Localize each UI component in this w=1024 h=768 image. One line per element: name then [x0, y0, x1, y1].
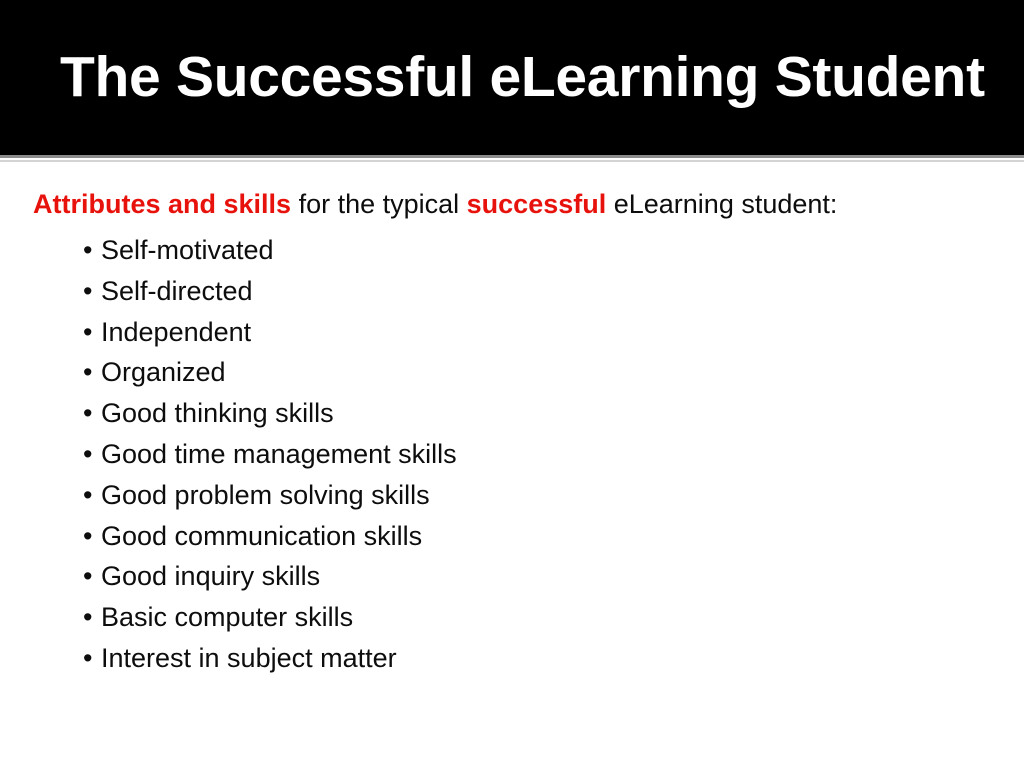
title-divider — [0, 155, 1024, 164]
bullet-dot-icon: • — [83, 271, 92, 312]
list-item: • Good problem solving skills — [0, 475, 1024, 516]
lead-emphasis-attributes: Attributes and skills — [33, 189, 291, 219]
list-item: • Good time management skills — [0, 434, 1024, 475]
bullet-dot-icon: • — [83, 230, 92, 271]
bullet-dot-icon: • — [83, 434, 92, 475]
bullet-dot-icon: • — [83, 556, 92, 597]
list-item: • Self-directed — [0, 271, 1024, 312]
lead-emphasis-successful: successful — [467, 189, 607, 219]
bullet-dot-icon: • — [83, 638, 92, 679]
bullet-dot-icon: • — [83, 516, 92, 557]
list-item: • Good thinking skills — [0, 393, 1024, 434]
list-item-label: Good thinking skills — [101, 398, 334, 428]
list-item: • Self-motivated — [0, 230, 1024, 271]
list-item: • Basic computer skills — [0, 597, 1024, 638]
list-item: • Interest in subject matter — [0, 638, 1024, 679]
bullet-dot-icon: • — [83, 312, 92, 353]
list-item-label: Self-motivated — [101, 235, 274, 265]
list-item-label: Good problem solving skills — [101, 480, 430, 510]
presentation-slide: The Successful eLearning Student Attribu… — [0, 0, 1024, 768]
list-item-label: Independent — [101, 317, 251, 347]
divider-rule-dark — [0, 155, 1024, 158]
lead-paragraph: Attributes and skills for the typical su… — [0, 185, 1024, 223]
list-item-label: Basic computer skills — [101, 602, 353, 632]
attributes-bullet-list: • Self-motivated • Self-directed • Indep… — [0, 230, 1024, 679]
list-item-label: Good time management skills — [101, 439, 457, 469]
list-item-label: Self-directed — [101, 276, 253, 306]
bullet-dot-icon: • — [83, 475, 92, 516]
list-item-label: Good inquiry skills — [101, 561, 320, 591]
slide-body: Attributes and skills for the typical su… — [0, 185, 1024, 679]
list-item-label: Interest in subject matter — [101, 643, 397, 673]
bullet-dot-icon: • — [83, 597, 92, 638]
lead-text-middle: for the typical — [291, 189, 467, 219]
list-item-label: Organized — [101, 357, 226, 387]
list-item-label: Good communication skills — [101, 521, 422, 551]
bullet-dot-icon: • — [83, 352, 92, 393]
page-title: The Successful eLearning Student — [0, 48, 985, 108]
lead-text-tail: eLearning student: — [606, 189, 837, 219]
list-item: • Independent — [0, 312, 1024, 353]
divider-rule-light — [0, 160, 1024, 162]
bullet-dot-icon: • — [83, 393, 92, 434]
list-item: • Good communication skills — [0, 516, 1024, 557]
title-banner: The Successful eLearning Student — [0, 0, 1024, 155]
list-item: • Good inquiry skills — [0, 556, 1024, 597]
list-item: • Organized — [0, 352, 1024, 393]
